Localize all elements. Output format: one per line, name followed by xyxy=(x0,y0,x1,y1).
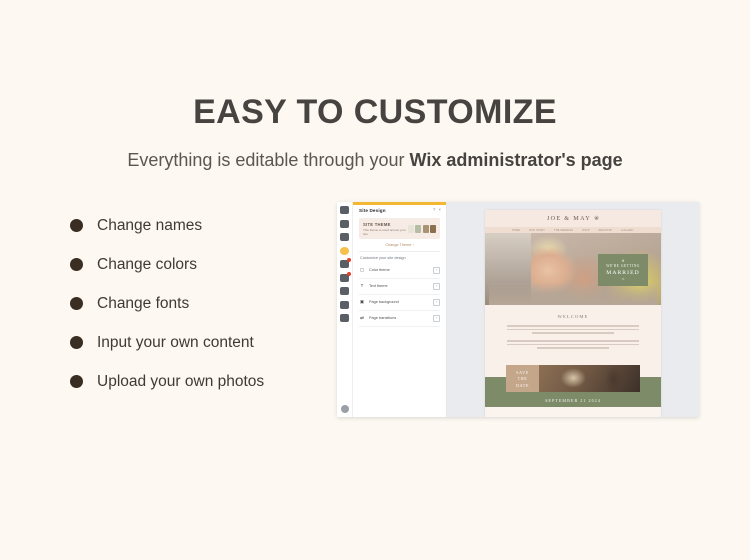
transition-icon: ⇄ xyxy=(359,315,365,321)
subtitle-prefix: Everything is editable through your xyxy=(127,150,409,170)
site-preview[interactable]: JOE & MAY ❀ HOME OUR STORY THE WEDDING R… xyxy=(485,210,661,417)
feature-label: Input your own content xyxy=(97,334,254,352)
text-icon: T xyxy=(359,283,365,289)
option-label: Text theme xyxy=(369,284,433,288)
add-elements-icon[interactable] xyxy=(340,260,349,268)
panel-header-actions: ? × xyxy=(433,208,441,213)
site-theme-card[interactable]: SITE THEME This theme is used across you… xyxy=(359,218,440,240)
body-text-line xyxy=(507,325,639,327)
body-text-line xyxy=(537,347,608,349)
option-label: Color theme xyxy=(369,268,433,272)
chevron-right-icon: › xyxy=(412,243,413,247)
panel-title: Site Design xyxy=(359,208,386,213)
content-manager-icon[interactable] xyxy=(340,301,349,309)
flourish-icon: ❀ xyxy=(594,215,599,222)
gear-icon[interactable] xyxy=(340,206,349,214)
std-line-3: DATE xyxy=(516,383,529,388)
pages-icon[interactable] xyxy=(340,220,349,228)
bullet-dot-icon xyxy=(70,219,83,232)
design-icon[interactable] xyxy=(340,247,349,255)
feature-label: Change colors xyxy=(97,256,197,274)
help-icon[interactable]: ? xyxy=(433,208,436,213)
page-title: EASY TO CUSTOMIZE xyxy=(0,93,750,132)
feature-label: Upload your own photos xyxy=(97,373,264,391)
hero-photo: ❦ WE'RE GETTING MARRIED ∞ xyxy=(485,233,661,305)
page-subtitle: Everything is editable through your Wix … xyxy=(0,150,750,171)
ornament-icon: ❦ xyxy=(622,259,625,263)
change-theme-link[interactable]: Change Theme › xyxy=(359,239,440,252)
editor-canvas[interactable]: JOE & MAY ❀ HOME OUR STORY THE WEDDING R… xyxy=(447,202,699,417)
welcome-section: WELCOME xyxy=(485,305,661,361)
site-design-panel: Site Design ? × SITE THEME This theme is… xyxy=(353,202,447,417)
subtitle-emphasis: Wix administrator's page xyxy=(410,150,623,170)
body-text-line xyxy=(507,340,639,342)
theme-swatches xyxy=(408,225,437,233)
apps-icon[interactable] xyxy=(340,274,349,282)
help-icon[interactable] xyxy=(341,405,349,413)
nav-item[interactable]: GALLERY xyxy=(621,229,633,232)
body-text-line xyxy=(507,344,639,346)
nav-item[interactable]: RSVP xyxy=(582,229,589,232)
option-row-page-background[interactable]: ▣ Page background › xyxy=(359,295,440,311)
site-logo: JOE & MAY xyxy=(547,215,591,222)
editor-icon-rail xyxy=(337,202,353,417)
list-item: Input your own content xyxy=(70,323,330,362)
chevron-right-icon: › xyxy=(433,299,440,306)
close-icon[interactable]: × xyxy=(438,208,441,213)
save-the-date-row: SAVE THE DATE xyxy=(506,365,640,392)
business-icon[interactable] xyxy=(340,314,349,322)
theme-swatch xyxy=(430,225,436,233)
feature-list: Change names Change colors Change fonts … xyxy=(70,206,330,401)
option-row-text-theme[interactable]: T Text theme › xyxy=(359,279,440,295)
wix-editor-screenshot: Site Design ? × SITE THEME This theme is… xyxy=(337,202,699,417)
save-the-date-photo xyxy=(539,365,640,392)
option-row-page-transitions[interactable]: ⇄ Page transitions › xyxy=(359,311,440,327)
std-line-2: THE xyxy=(518,376,528,381)
body-text-line xyxy=(532,332,614,334)
welcome-title: WELCOME xyxy=(507,314,639,319)
nav-item[interactable]: HOME xyxy=(512,229,520,232)
feature-label: Change names xyxy=(97,217,202,235)
nav-item[interactable]: OUR STORY xyxy=(529,229,545,232)
badge-line-1: WE'RE GETTING xyxy=(606,264,640,268)
chevron-right-icon: › xyxy=(433,283,440,290)
panel-section-label: Customize your site design xyxy=(353,252,446,263)
change-theme-label: Change Theme xyxy=(385,243,411,247)
layout-icon[interactable] xyxy=(340,233,349,241)
theme-swatch xyxy=(408,225,414,233)
option-row-color-theme[interactable]: ▢ Color theme › xyxy=(359,263,440,279)
save-the-date-section: SAVE THE DATE SEPTEMBER 21 2024 xyxy=(485,361,661,407)
bullet-dot-icon xyxy=(70,258,83,271)
getting-married-badge: ❦ WE'RE GETTING MARRIED ∞ xyxy=(598,254,648,286)
body-text-line xyxy=(507,329,639,331)
list-item: Change colors xyxy=(70,245,330,284)
option-label: Page background xyxy=(369,300,433,304)
theme-card-text: SITE THEME This theme is used across you… xyxy=(363,222,407,237)
save-the-date-block: SAVE THE DATE xyxy=(506,365,539,392)
panel-header: Site Design ? × xyxy=(353,205,446,216)
theme-swatch xyxy=(415,225,421,233)
bullet-dot-icon xyxy=(70,297,83,310)
background-icon: ▣ xyxy=(359,299,365,305)
std-line-1: SAVE xyxy=(516,370,529,375)
theme-description: This theme is used across your site xyxy=(363,228,407,236)
feature-label: Change fonts xyxy=(97,295,189,313)
badge-line-2: MARRIED xyxy=(606,270,640,276)
nav-item[interactable]: REGISTRY xyxy=(599,229,613,232)
list-item: Change names xyxy=(70,206,330,245)
chevron-right-icon: › xyxy=(433,315,440,322)
bullet-dot-icon xyxy=(70,375,83,388)
wedding-date: SEPTEMBER 21 2024 xyxy=(485,398,661,403)
palette-icon: ▢ xyxy=(359,267,365,273)
nav-item[interactable]: THE WEDDING xyxy=(554,229,573,232)
bullet-dot-icon xyxy=(70,336,83,349)
site-header: JOE & MAY ❀ xyxy=(485,210,661,227)
list-item: Change fonts xyxy=(70,284,330,323)
chevron-right-icon: › xyxy=(433,267,440,274)
media-icon[interactable] xyxy=(340,287,349,295)
theme-name: SITE THEME xyxy=(363,222,407,227)
badge-line-3: ∞ xyxy=(622,277,625,281)
option-label: Page transitions xyxy=(369,316,433,320)
list-item: Upload your own photos xyxy=(70,362,330,401)
theme-swatch xyxy=(423,225,429,233)
